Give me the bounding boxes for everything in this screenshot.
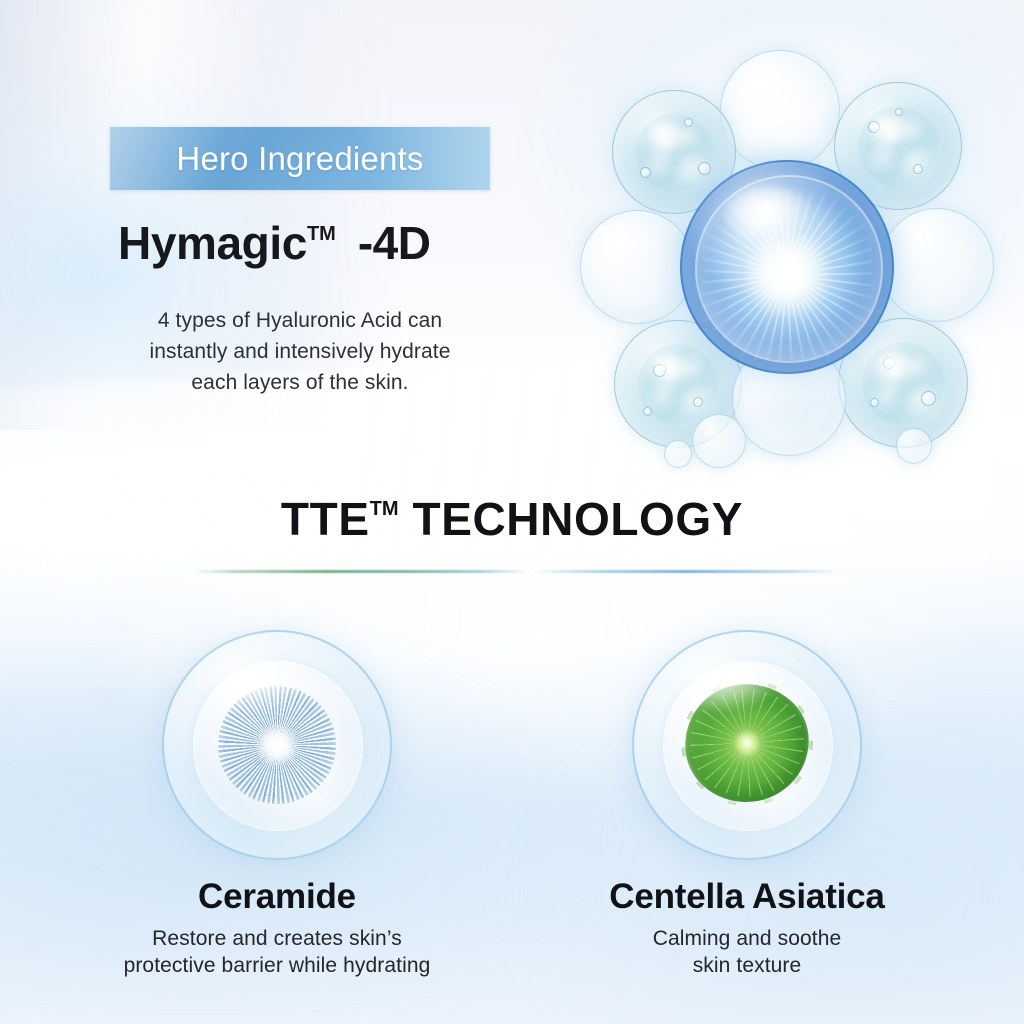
tte-technology-title: TTETMTECHNOLOGY bbox=[0, 495, 1024, 543]
hymagic-molecule-cluster bbox=[572, 42, 992, 482]
ceramide-description: Restore and creates skin’s protective ba… bbox=[42, 925, 512, 980]
centella-description-line-1: Calming and soothe bbox=[512, 925, 982, 952]
tte-title-word: TECHNOLOGY bbox=[413, 493, 744, 545]
product-ingredient-infographic: Hero Ingredients HymagicTM-4D 4 types of… bbox=[0, 0, 1024, 1024]
micro-bubble bbox=[868, 121, 880, 133]
hymagic-description: 4 types of Hyaluronic Acid can instantly… bbox=[98, 305, 502, 398]
micro-bubble bbox=[698, 162, 711, 175]
ceramide-description-line-2: protective barrier while hydrating bbox=[42, 952, 512, 979]
ingredient-card-ceramide: Ceramide Restore and creates skin’s prot… bbox=[42, 630, 512, 979]
micro-bubble bbox=[684, 118, 693, 127]
hero-ingredients-label: Hero Ingredients bbox=[176, 142, 423, 175]
hymagic-description-line-2: instantly and intensively hydrate bbox=[98, 336, 502, 367]
hymagic-description-line-3: each layers of the skin. bbox=[98, 367, 502, 398]
micro-bubble bbox=[693, 397, 703, 407]
hymagic-title-main: Hymagic bbox=[118, 217, 307, 269]
micro-bubble bbox=[883, 357, 895, 369]
micro-bubble bbox=[870, 398, 879, 407]
ceramide-bubble bbox=[162, 630, 392, 860]
trademark-symbol: TM bbox=[307, 223, 336, 245]
stray-bubble-tiny bbox=[896, 428, 932, 464]
trademark-symbol: TM bbox=[370, 498, 399, 520]
centella-description-line-2: skin texture bbox=[512, 952, 982, 979]
ceramide-name: Ceramide bbox=[42, 878, 512, 917]
satellite-bubble-top bbox=[720, 50, 840, 170]
centella-bubble bbox=[632, 630, 862, 860]
bubble-gloss-highlight bbox=[205, 655, 309, 714]
micro-bubble bbox=[921, 391, 936, 406]
centella-description: Calming and soothe skin texture bbox=[512, 925, 982, 980]
tte-title-main: TTE bbox=[281, 493, 370, 545]
micro-bubble bbox=[640, 167, 651, 178]
micro-bubble bbox=[895, 108, 903, 116]
core-inner-rim bbox=[695, 175, 884, 364]
micro-bubble bbox=[653, 364, 666, 377]
hymagic-description-line-1: 4 types of Hyaluronic Acid can bbox=[98, 305, 502, 336]
satellite-bubble-mid-right bbox=[880, 208, 994, 322]
bubble-gloss-highlight bbox=[675, 655, 779, 714]
hero-ingredients-banner: Hero Ingredients bbox=[110, 127, 490, 190]
hymagic-title-suffix: -4D bbox=[358, 217, 431, 269]
stray-bubble-tiny bbox=[664, 440, 692, 468]
hymagic-core-sphere bbox=[680, 160, 894, 374]
micro-bubble bbox=[643, 407, 652, 416]
ingredient-card-centella-asiatica: Centella Asiatica Calming and soothe ski… bbox=[512, 630, 982, 979]
ceramide-description-line-1: Restore and creates skin’s bbox=[42, 925, 512, 952]
stray-bubble-small bbox=[692, 414, 746, 468]
satellite-bubble-mid-left bbox=[580, 210, 694, 324]
centella-name: Centella Asiatica bbox=[512, 878, 982, 917]
micro-bubble bbox=[913, 164, 923, 174]
ceramide-visual bbox=[162, 630, 392, 860]
centella-visual bbox=[632, 630, 862, 860]
hymagic-title: HymagicTM-4D bbox=[118, 219, 430, 267]
tte-divider bbox=[195, 570, 841, 573]
